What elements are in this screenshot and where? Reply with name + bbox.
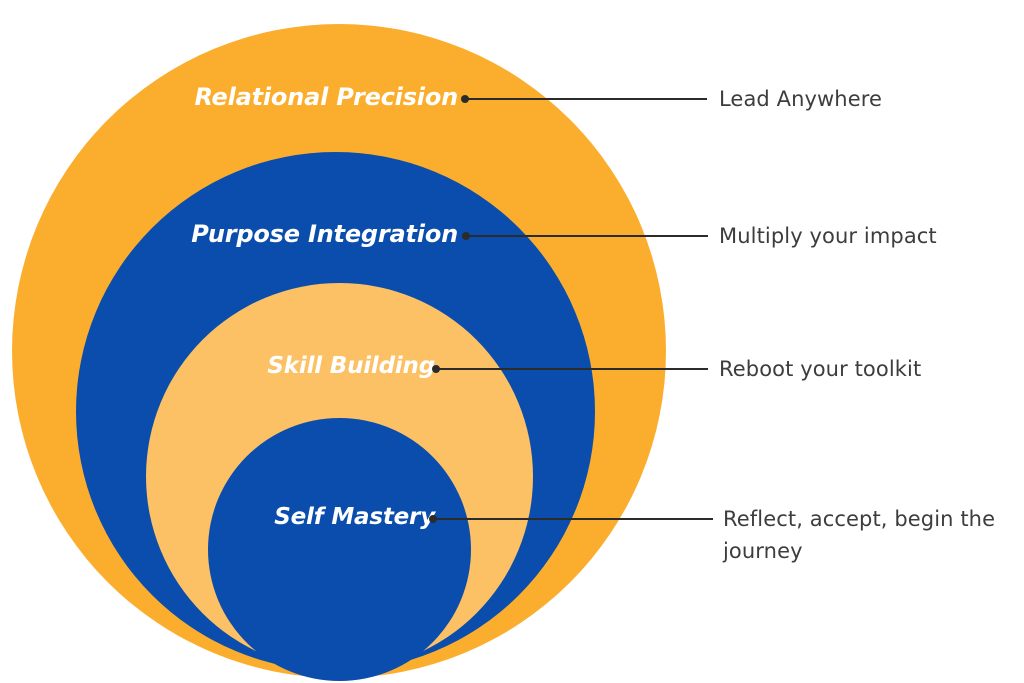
leader-line-purpose-integration bbox=[466, 235, 708, 237]
leader-line-self-mastery bbox=[433, 518, 713, 520]
leader-dot-icon bbox=[461, 95, 469, 103]
ring-label-skill-building: Skill Building bbox=[267, 353, 435, 379]
callout-relational-precision: Lead Anywhere bbox=[719, 83, 882, 115]
ring-label-relational-precision: Relational Precision bbox=[194, 83, 458, 111]
diagram-canvas: Relational Precision Purpose Integration… bbox=[0, 0, 1024, 683]
callout-purpose-integration: Multiply your impact bbox=[719, 220, 937, 252]
circle-self-mastery[interactable] bbox=[208, 418, 471, 681]
leader-line-skill-building bbox=[436, 368, 708, 370]
leader-dot-icon bbox=[429, 515, 437, 523]
callout-skill-building: Reboot your toolkit bbox=[719, 353, 921, 385]
callout-self-mastery: Reflect, accept, begin the journey bbox=[723, 503, 1023, 567]
ring-label-purpose-integration: Purpose Integration bbox=[191, 220, 458, 248]
leader-dot-icon bbox=[462, 232, 470, 240]
leader-dot-icon bbox=[432, 365, 440, 373]
leader-line-relational-precision bbox=[465, 98, 707, 100]
ring-label-self-mastery: Self Mastery bbox=[274, 504, 435, 530]
